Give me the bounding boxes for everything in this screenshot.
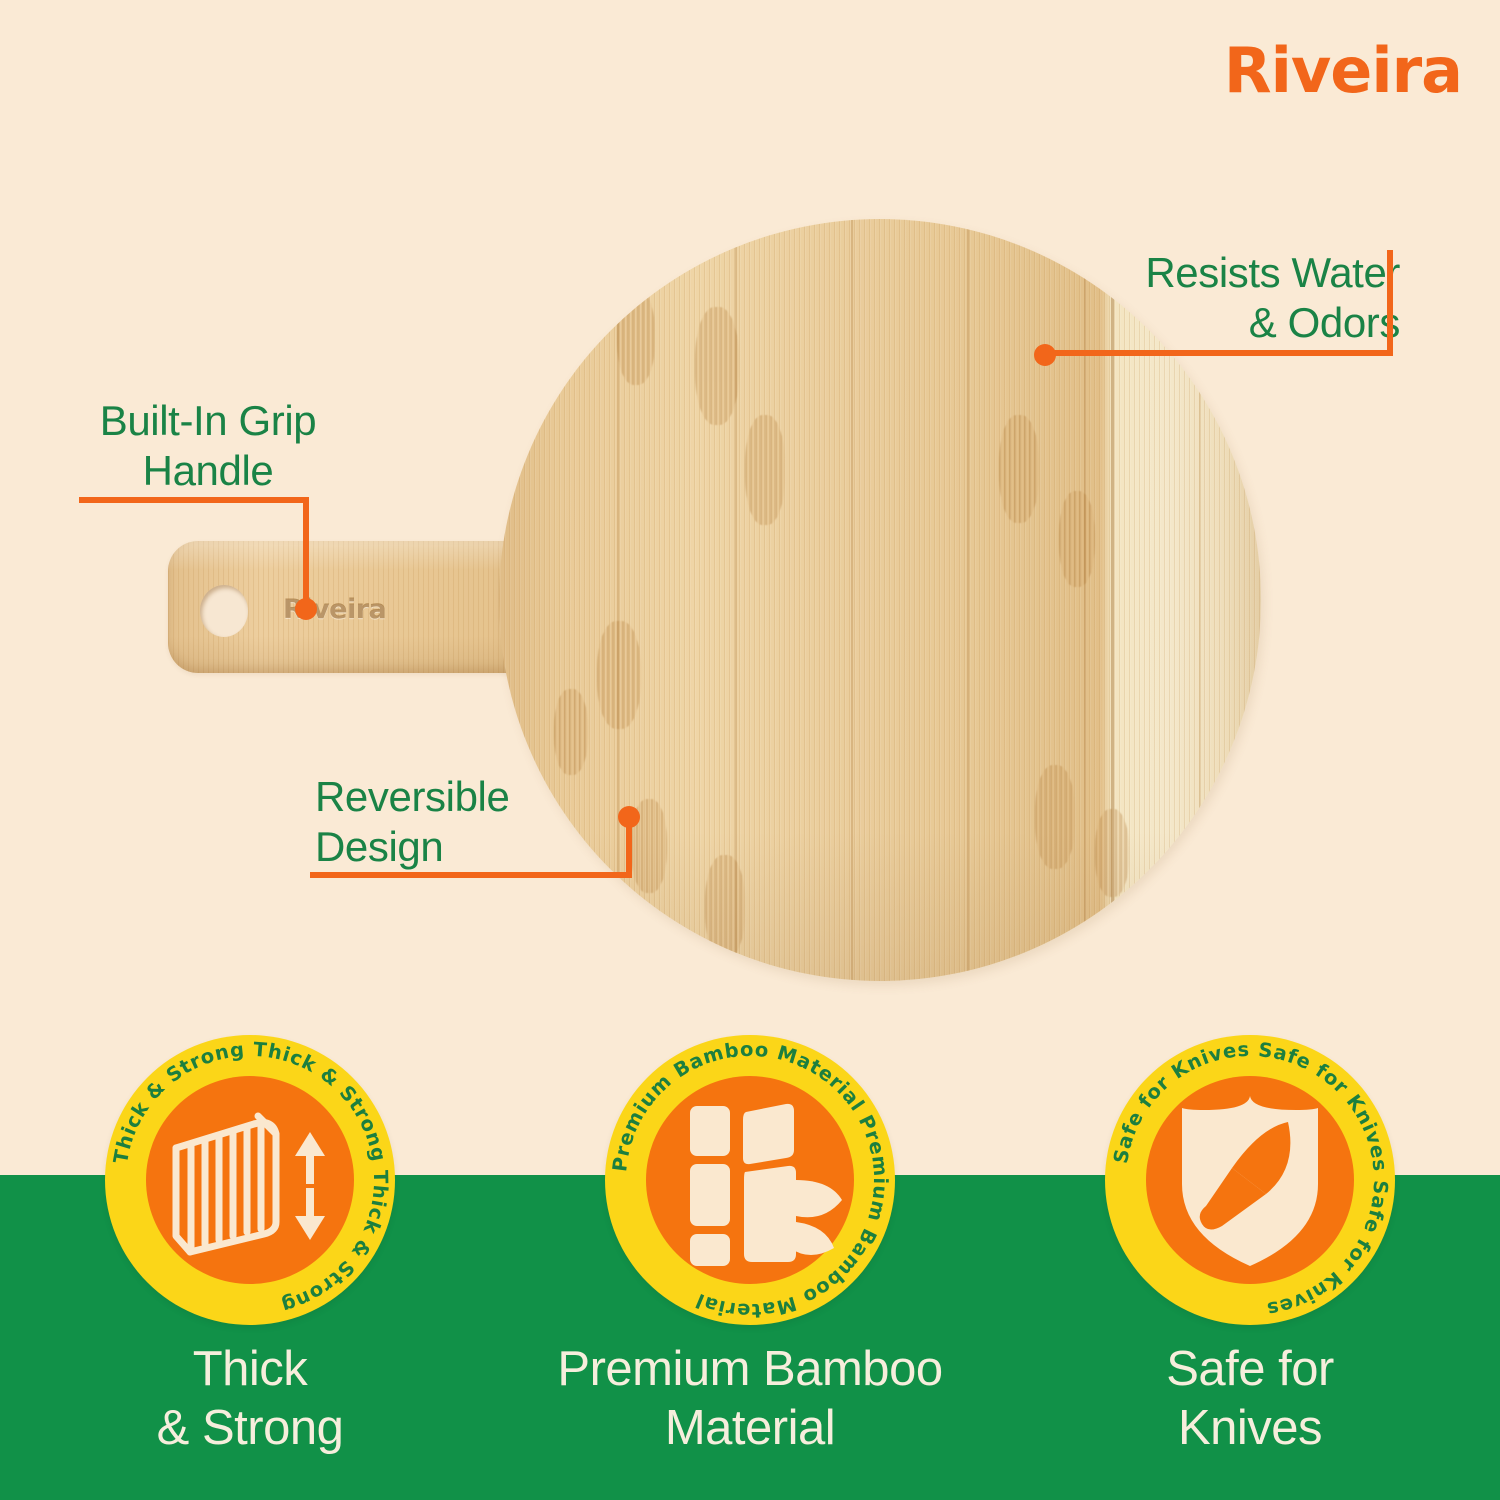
- leader-line-vertical-water: [1387, 250, 1393, 356]
- feature-badges: Thick & Strong Thick & Strong Thick & St…: [0, 1035, 1500, 1335]
- badge-thick-and-strong: Thick & Strong Thick & Strong Thick & St…: [105, 1035, 395, 1325]
- board-thickness-icon: [146, 1076, 354, 1284]
- product-illustration: Riveira: [0, 0, 1500, 1020]
- badge-safe-for-knives: Safe for Knives Safe for Knives Safe for…: [1105, 1035, 1395, 1325]
- callout-dot-water: [1034, 344, 1056, 366]
- caption-premium-bamboo-material: Premium Bamboo Material: [540, 1340, 960, 1458]
- wood-knot: [999, 415, 1039, 523]
- leader-line-vertical-grip: [303, 497, 309, 607]
- shield-knife-icon: [1146, 1076, 1354, 1284]
- callout-dot-reversible: [618, 806, 640, 828]
- leader-line-horizontal-reversible: [310, 872, 632, 878]
- hanging-hole: [200, 585, 248, 637]
- caption-safe-for-knives: Safe for Knives: [1040, 1340, 1460, 1458]
- callout-label-built-in-grip-handle: Built-In Grip Handle: [78, 396, 338, 497]
- board-bottom-shading: [499, 831, 1261, 981]
- bamboo-stalks-icon: [646, 1076, 854, 1284]
- wood-knot: [1059, 491, 1095, 587]
- callout-dot-grip: [295, 598, 317, 620]
- wood-knot: [695, 307, 739, 425]
- leader-line-horizontal-grip: [79, 497, 309, 503]
- callout-label-reversible-design: Reversible Design: [315, 772, 509, 873]
- wood-knot: [597, 621, 641, 729]
- badge-premium-bamboo-material: Premium Bamboo Material Premium Bamboo M…: [605, 1035, 895, 1325]
- wood-knot: [745, 415, 785, 525]
- callout-label-resists-water-odors: Resists Water & Odors: [1145, 248, 1400, 349]
- wood-knot: [617, 289, 655, 385]
- caption-thick-and-strong: Thick & Strong: [40, 1340, 460, 1458]
- wood-knot: [554, 219, 596, 329]
- infographic-canvas: Riveira Riveira: [0, 0, 1500, 1500]
- leader-line-horizontal-water: [1043, 350, 1393, 356]
- wood-knot: [554, 689, 588, 775]
